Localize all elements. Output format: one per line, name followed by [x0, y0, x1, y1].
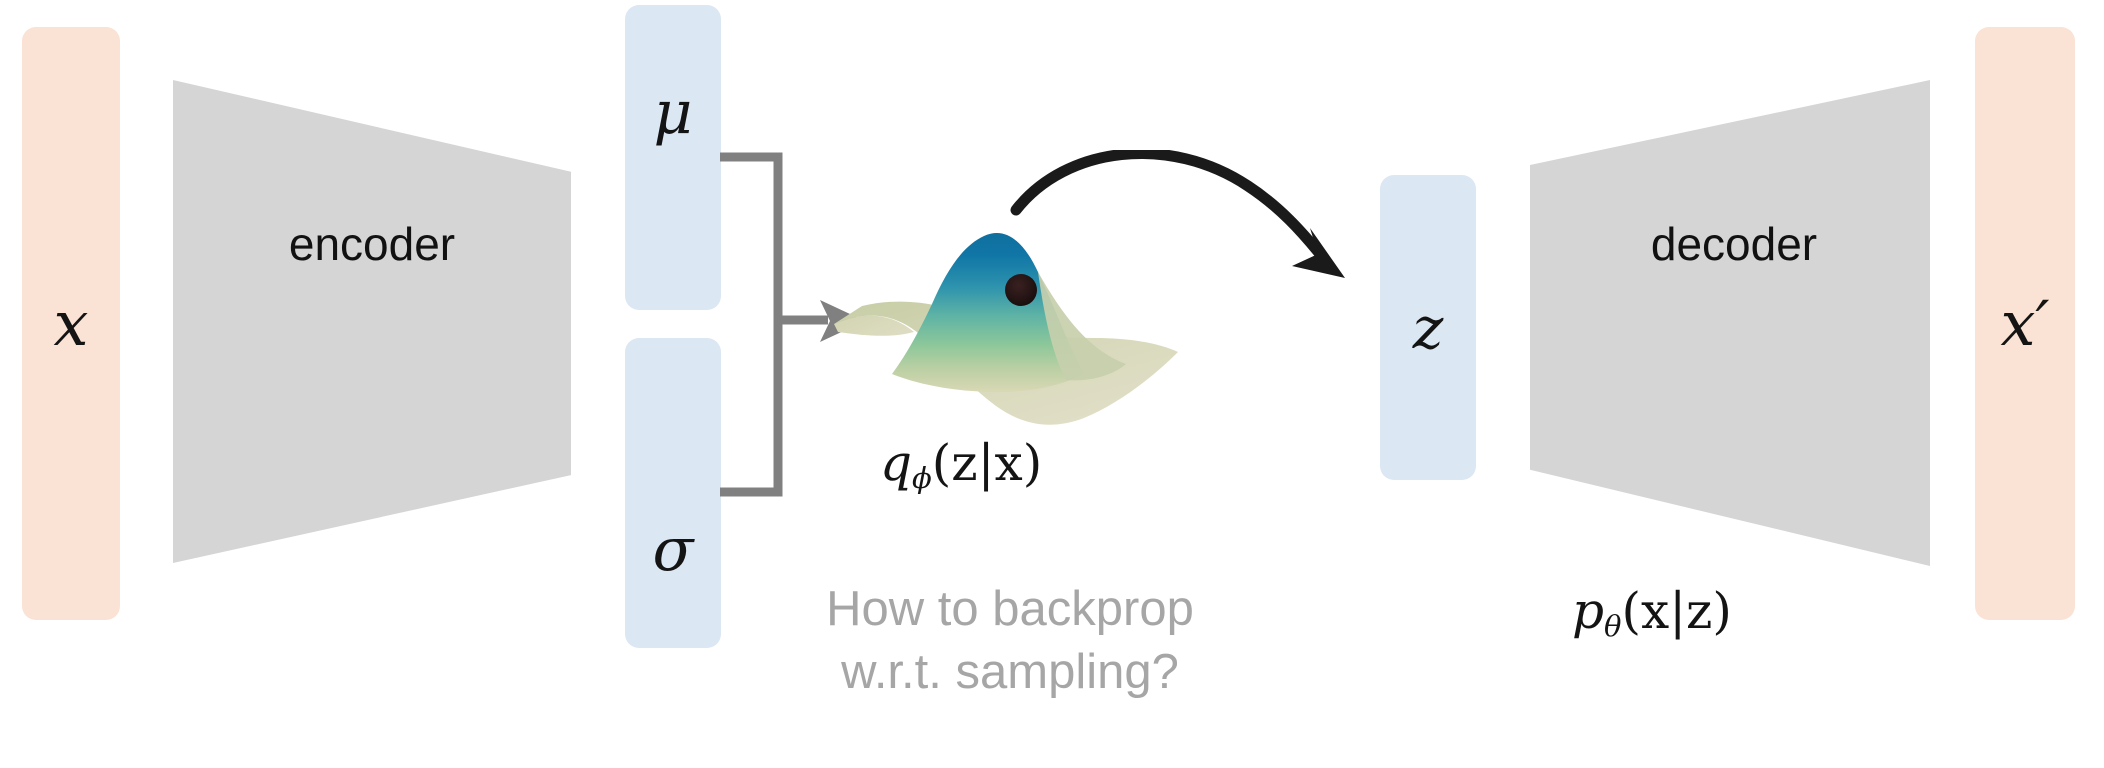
encoder-label: encoder	[196, 217, 548, 271]
posterior-base: q	[880, 434, 912, 492]
sampling-arrow-path	[1016, 153, 1320, 254]
likelihood-caption: pθ(x|z)	[1572, 582, 1732, 643]
latent-z-box: z	[1380, 175, 1476, 480]
output-x-prime-label: x′	[2000, 293, 2049, 355]
question-line-1: How to backprop	[760, 578, 1260, 641]
encoder-block	[173, 80, 571, 563]
input-x-label: x	[54, 293, 89, 355]
likelihood-args: (x|z)	[1621, 582, 1731, 640]
decoder-label: decoder	[1558, 217, 1910, 271]
posterior-subscript: ϕ	[912, 461, 932, 495]
likelihood-subscript: θ	[1604, 609, 1621, 643]
mu-sigma-bracket	[720, 157, 778, 492]
posterior-args: (z|x)	[932, 434, 1042, 492]
mu-label: μ	[654, 83, 693, 143]
output-x-prime-box: x′	[1975, 27, 2075, 620]
decoder-block	[1530, 80, 1930, 566]
posterior-caption: qϕ(z|x)	[880, 434, 1042, 495]
backprop-question: How to backprop w.r.t. sampling?	[760, 578, 1260, 703]
likelihood-base: p	[1572, 582, 1604, 640]
vae-diagram: x encoder μ σ	[0, 0, 2104, 768]
curved-sampling-arrow	[980, 150, 1380, 290]
sigma-label: σ	[653, 520, 694, 580]
question-line-2: w.r.t. sampling?	[760, 641, 1260, 704]
latent-z-label: z	[1413, 299, 1444, 357]
input-x-box: x	[22, 27, 120, 620]
